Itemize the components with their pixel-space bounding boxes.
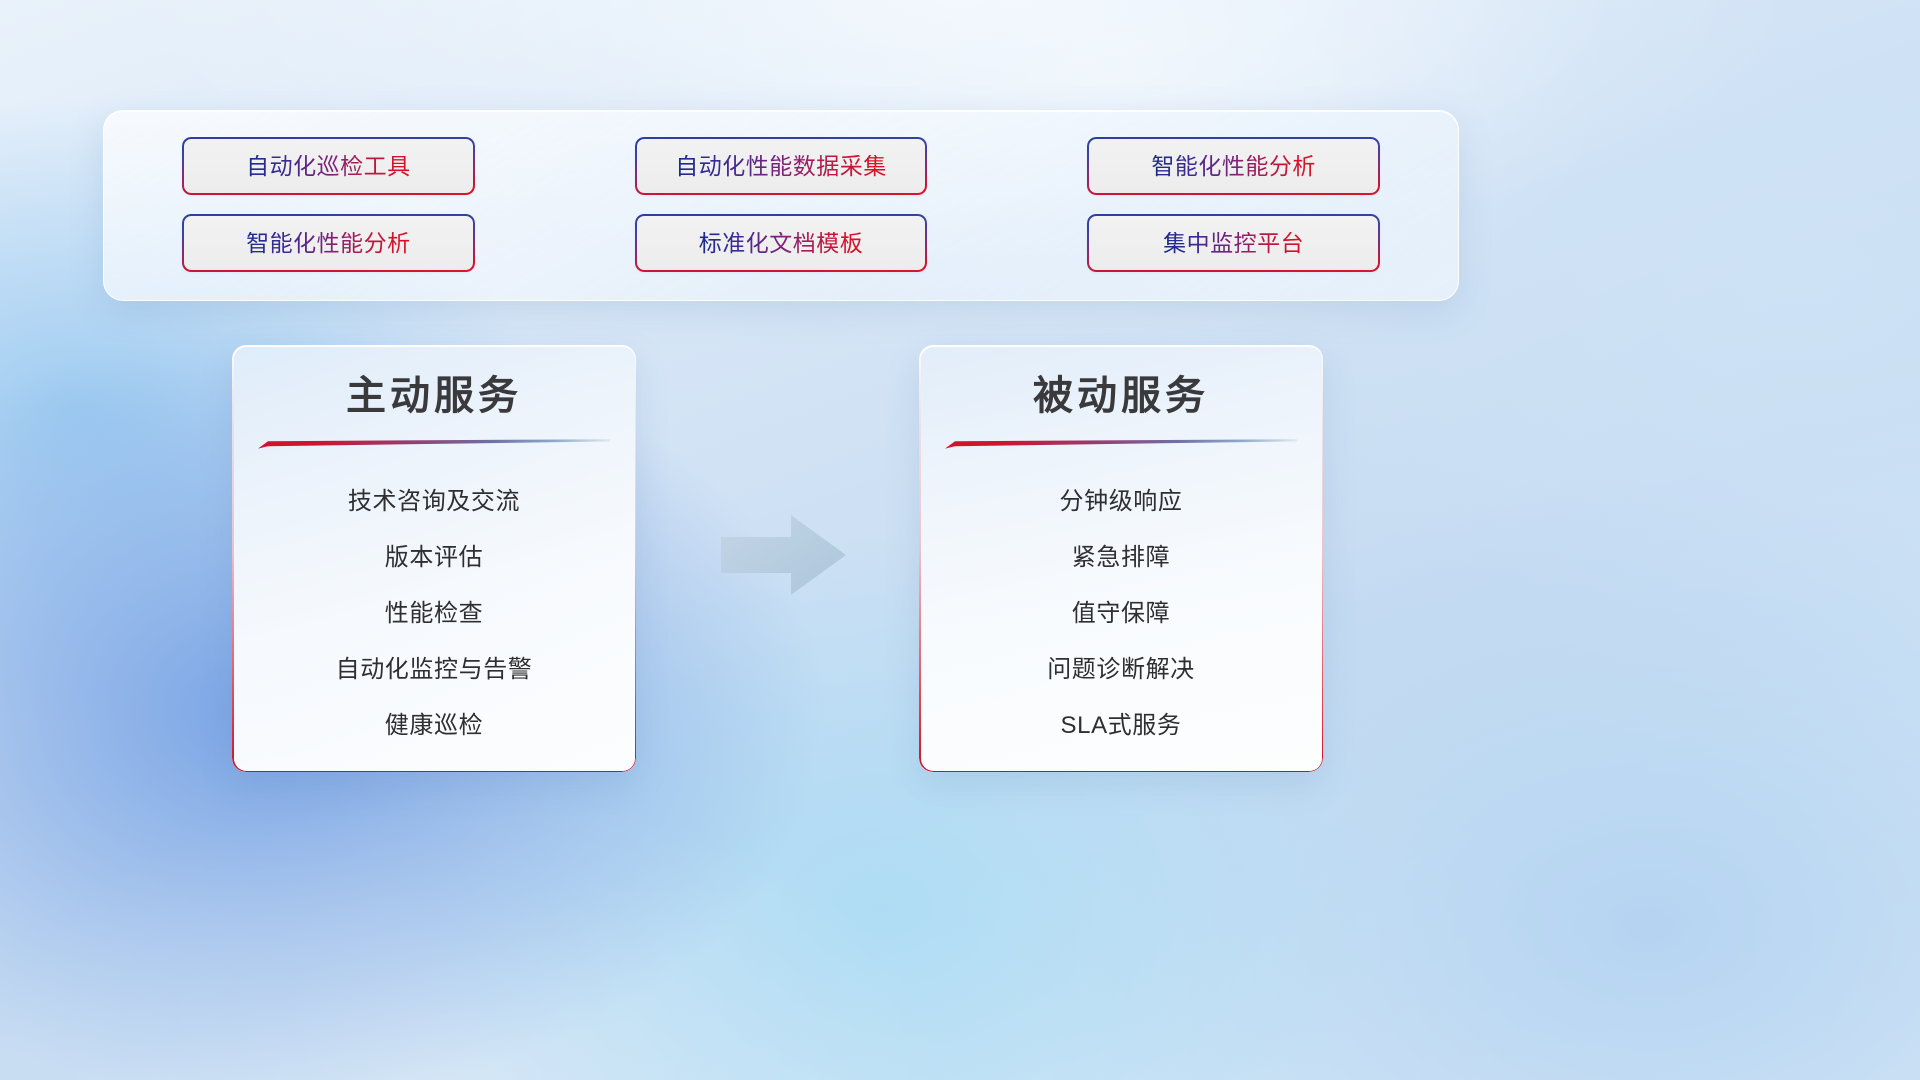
capability-pill-label: 智能化性能分析 (1151, 155, 1316, 178)
list-item: 分钟级响应 (919, 474, 1323, 530)
title-divider (945, 437, 1297, 450)
active-service-title: 主动服务 (232, 371, 636, 421)
capability-pill-label: 自动化性能数据采集 (675, 155, 887, 178)
passive-service-title: 被动服务 (919, 371, 1323, 421)
capability-pill-label: 集中监控平台 (1163, 232, 1304, 255)
list-item: 技术咨询及交流 (232, 474, 636, 530)
list-item: 性能检查 (232, 586, 636, 642)
capability-tools-panel: 自动化巡检工具 自动化性能数据采集 智能化性能分析 智能化性能分析 标准化文档模… (103, 110, 1459, 301)
passive-service-list: 分钟级响应 紧急排障 值守保障 问题诊断解决 SLA式服务 (919, 474, 1323, 754)
capability-pill[interactable]: 自动化巡检工具 (182, 137, 475, 195)
capability-pill[interactable]: 自动化性能数据采集 (635, 137, 928, 195)
list-item: 问题诊断解决 (919, 642, 1323, 698)
active-service-card: 主动服务 技术咨询及交流 版本评估 性能检查 (232, 345, 636, 772)
capability-pill[interactable]: 智能化性能分析 (182, 214, 475, 272)
active-service-list: 技术咨询及交流 版本评估 性能检查 自动化监控与告警 健康巡检 (232, 474, 636, 754)
list-item: 值守保障 (919, 586, 1323, 642)
diagram-stage: 自动化巡检工具 自动化性能数据采集 智能化性能分析 智能化性能分析 标准化文档模… (0, 0, 1920, 1080)
passive-service-card: 被动服务 分钟级响应 紧急排障 值守保障 (919, 345, 1323, 772)
capability-pill-label: 智能化性能分析 (246, 232, 411, 255)
arrow-right-icon (713, 505, 853, 605)
capability-pill-label: 标准化文档模板 (699, 232, 864, 255)
capability-pill[interactable]: 集中监控平台 (1087, 214, 1380, 272)
title-divider (258, 437, 610, 450)
list-item: 健康巡检 (232, 698, 636, 754)
capability-pill[interactable]: 标准化文档模板 (635, 214, 928, 272)
capability-pill[interactable]: 智能化性能分析 (1087, 137, 1380, 195)
list-item: 版本评估 (232, 530, 636, 586)
list-item: SLA式服务 (919, 698, 1323, 754)
capability-pill-label: 自动化巡检工具 (246, 155, 411, 178)
list-item: 自动化监控与告警 (232, 642, 636, 698)
list-item: 紧急排障 (919, 530, 1323, 586)
